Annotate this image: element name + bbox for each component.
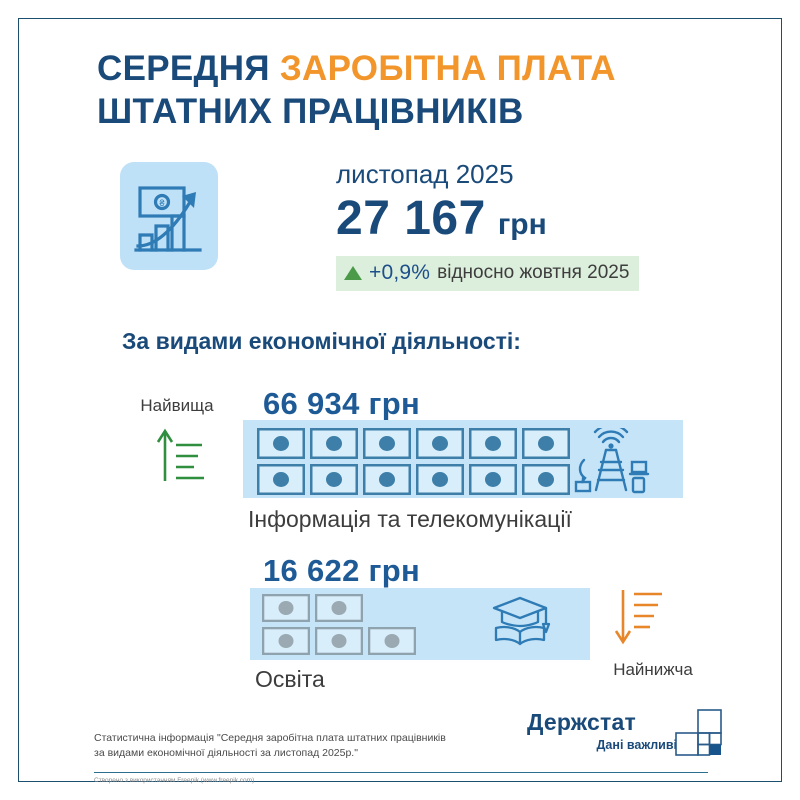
derzhstat-squares-logo (674, 708, 724, 763)
page-title: СЕРЕДНЯ ЗАРОБІТНА ПЛАТА ШТАТНИХ ПРАЦІВНИ… (97, 48, 717, 133)
telecom-tower-icon (568, 428, 650, 499)
title-line-1: СЕРЕДНЯ ЗАРОБІТНА ПЛАТА (97, 48, 717, 91)
credit-line: Створено з використанням Freepik (www.fr… (94, 777, 254, 784)
growth-chart-money-icon: ₴ (120, 162, 218, 270)
banknote-icon (363, 464, 411, 495)
arrow-down-orange-icon (608, 586, 670, 653)
banknote-icon (262, 627, 310, 655)
banknote-icon (310, 428, 358, 459)
logo-tagline: Дані важливі (527, 738, 677, 752)
title-words-zarobitna-plata: ЗАРОБІТНА ПЛАТА (280, 49, 616, 88)
lowest-side-label: Найнижча (598, 660, 708, 680)
infographic-page: СЕРЕДНЯ ЗАРОБІТНА ПЛАТА ШТАТНИХ ПРАЦІВНИ… (0, 0, 800, 800)
title-word-seredniya: СЕРЕДНЯ (97, 49, 270, 88)
banknote-icon (363, 428, 411, 459)
hero-currency: грн (498, 210, 547, 240)
banknote-icon (368, 627, 416, 655)
triangle-up-icon (344, 266, 362, 280)
hero-amount-row: 27 167 грн (336, 195, 736, 243)
graduation-cap-book-icon (488, 592, 552, 653)
banknote-icon (522, 464, 570, 495)
hero-summary: листопад 2025 27 167 грн +0,9% відносно … (336, 160, 736, 291)
hero-period: листопад 2025 (336, 160, 736, 189)
highest-side-label: Найвища (122, 396, 232, 416)
lowest-category-label: Освіта (255, 666, 325, 693)
arrow-up-green-icon (150, 425, 212, 490)
banknote-icon (257, 428, 305, 459)
svg-text:₴: ₴ (159, 198, 164, 208)
highest-category-label: Інформація та телекомунікації (248, 506, 572, 533)
status-badge: +0,9% відносно жовтня 2025 (336, 256, 639, 291)
highest-banknote-pictogram (257, 428, 570, 495)
banknote-icon (310, 464, 358, 495)
section-heading: За видами економічної діяльності: (122, 328, 521, 355)
banknote-icon (469, 428, 517, 459)
lowest-banknote-pictogram (262, 594, 416, 655)
banknote-icon (416, 464, 464, 495)
hero-amount-value: 27 167 (336, 195, 486, 243)
banknote-icon (522, 428, 570, 459)
banknote-icon (315, 627, 363, 655)
footnote-line-2: за видами економічної діяльності за лист… (94, 746, 514, 761)
banknote-icon (262, 594, 310, 622)
banknote-row (262, 627, 416, 655)
banknote-row (257, 428, 570, 459)
banknote-icon (469, 464, 517, 495)
title-line-2: ШТАТНИХ ПРАЦІВНИКІВ (97, 91, 717, 134)
banknote-icon (416, 428, 464, 459)
banknote-row (257, 464, 570, 495)
lowest-amount: 16 622 грн (263, 553, 420, 589)
badge-comparison-text: відносно жовтня 2025 (437, 262, 629, 284)
banknote-row (262, 594, 416, 622)
banknote-icon (315, 594, 363, 622)
footer-divider (94, 772, 708, 773)
highest-amount: 66 934 грн (263, 386, 420, 422)
badge-change-value: +0,9% (369, 261, 430, 285)
footnote: Статистична інформація "Середня заробітн… (94, 731, 514, 761)
footnote-line-1: Статистична інформація "Середня заробітн… (94, 731, 514, 746)
banknote-icon (257, 464, 305, 495)
